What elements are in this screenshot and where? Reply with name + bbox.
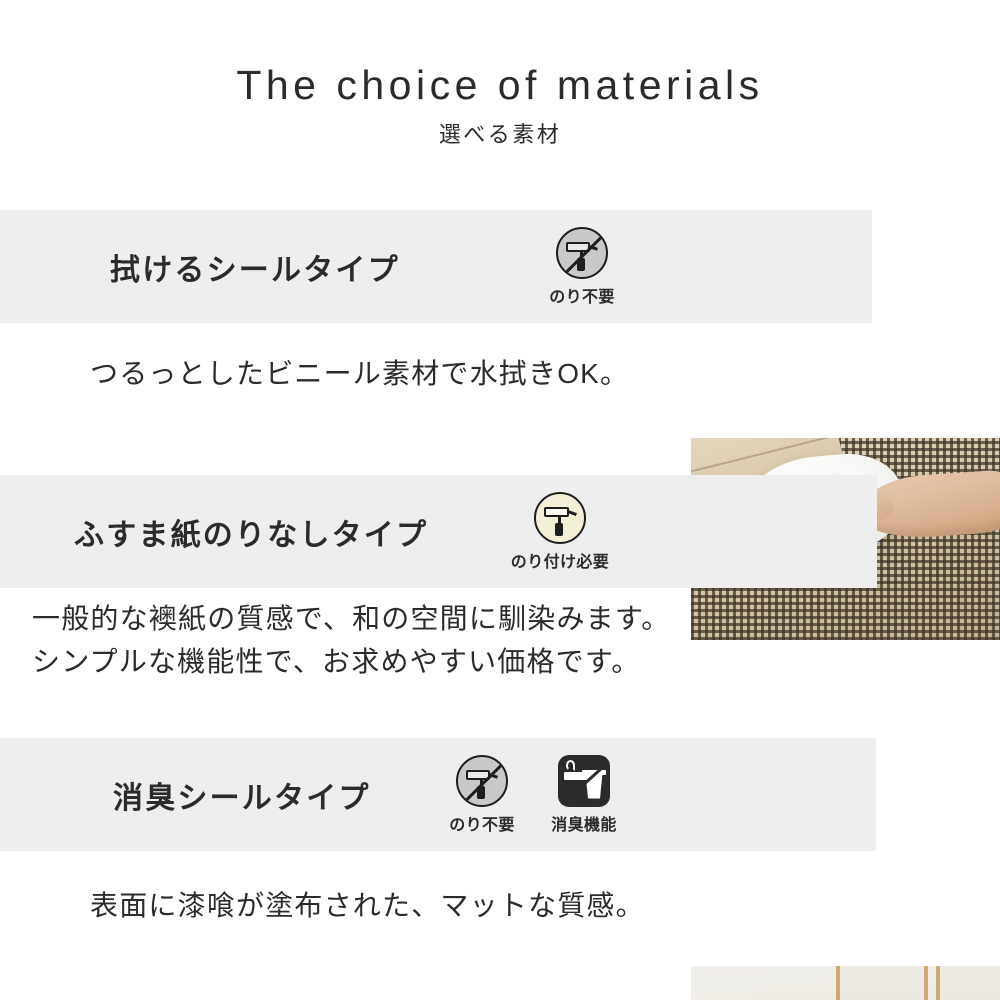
page-subtitle: 選べる素材 bbox=[0, 117, 1000, 149]
section-description: 一般的な襖紙の質感で、和の空間に馴染みます。 シンプルな機能性で、お求めやすい価… bbox=[32, 598, 670, 683]
material-section-fusuma-no-glue: ふすま紙のりなしタイプ のり付け必要 一般的な襖紙の質感で、和の空間に馴染みます… bbox=[0, 470, 1000, 715]
section-title: 消臭シールタイプ bbox=[113, 738, 371, 851]
description-line: つるっとしたビニール素材で水拭きOK。 bbox=[90, 353, 629, 396]
page-title: The choice of materials bbox=[0, 62, 1000, 109]
materials-choice-page: The choice of materials 選べる素材 拭けるシールタイプ … bbox=[0, 0, 1000, 1000]
badge-deodorant: 消臭機能 bbox=[542, 755, 626, 835]
badge-caption: のり不要 bbox=[449, 811, 515, 835]
section-title: 拭けるシールタイプ bbox=[110, 210, 400, 323]
glue-required-roller-icon bbox=[534, 492, 586, 544]
no-glue-roller-icon bbox=[556, 227, 608, 279]
badge-caption: のり付け必要 bbox=[511, 548, 609, 572]
badge-caption: 消臭機能 bbox=[551, 811, 617, 835]
page-header: The choice of materials 選べる素材 bbox=[0, 0, 1000, 200]
no-glue-roller-icon bbox=[456, 755, 508, 807]
badge-glue-required: のり付け必要 bbox=[518, 492, 602, 572]
section-description: 表面に漆喰が塗布された、マットな質感。 bbox=[90, 885, 645, 928]
badge-caption: のり不要 bbox=[549, 283, 615, 307]
description-line: 表面に漆喰が塗布された、マットな質感。 bbox=[90, 885, 645, 928]
section-description: つるっとしたビニール素材で水拭きOK。 bbox=[90, 353, 629, 396]
deodorant-function-icon bbox=[558, 755, 610, 807]
description-line: 一般的な襖紙の質感で、和の空間に馴染みます。 bbox=[32, 598, 670, 641]
material-section-wipeable: 拭けるシールタイプ のり不要 つるっとしたビニール素材で水拭きOK。 bbox=[0, 205, 1000, 450]
section-badge-group: のり不要 消臭機能 bbox=[440, 738, 626, 851]
description-line: シンプルな機能性で、お求めやすい価格です。 bbox=[32, 641, 670, 684]
section-badge-group: のり付け必要 bbox=[518, 475, 602, 588]
badge-no-glue: のり不要 bbox=[440, 755, 524, 835]
badge-no-glue: のり不要 bbox=[540, 227, 624, 307]
section-title: ふすま紙のりなしタイプ bbox=[74, 475, 428, 588]
material-section-deodorizing: 消臭シールタイプ のり不要 bbox=[0, 733, 1000, 978]
section-badge-group: のり不要 bbox=[540, 210, 624, 323]
